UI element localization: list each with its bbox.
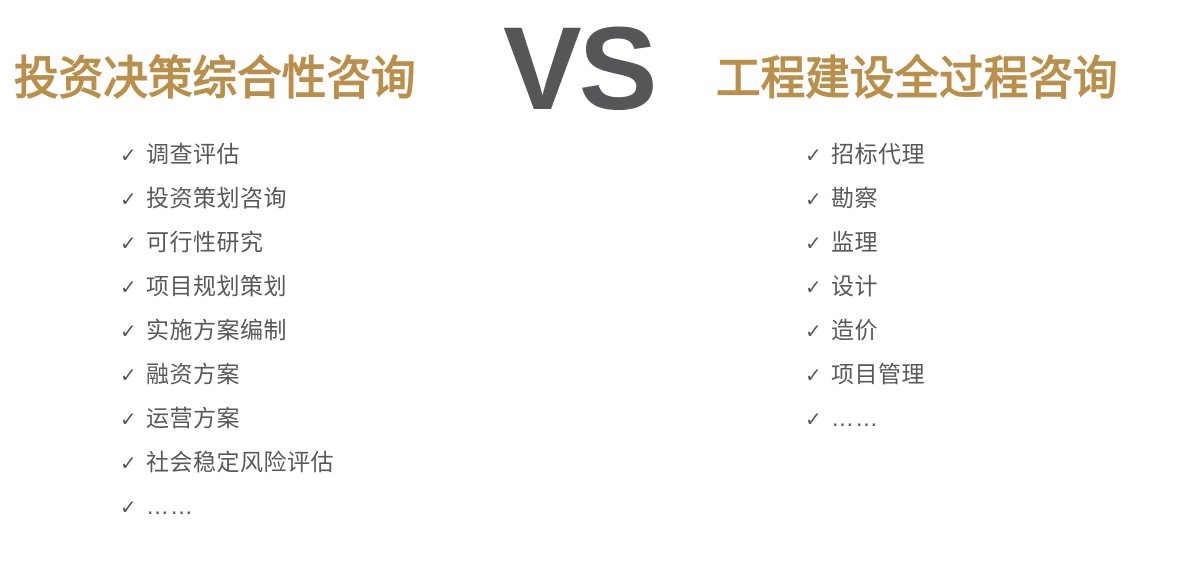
- vs-separator-label: VS: [503, 10, 654, 128]
- list-item: ✓调查评估: [120, 132, 334, 176]
- right-service-column: ✓招标代理✓勘察✓监理✓设计✓造价✓项目管理✓……: [805, 132, 925, 440]
- comparison-columns: ✓调查评估✓投资策划咨询✓可行性研究✓项目规划策划✓实施方案编制✓融资方案✓运营…: [0, 132, 1184, 578]
- list-item: ✓监理: [805, 220, 925, 264]
- list-item: ✓造价: [805, 308, 925, 352]
- check-icon: ✓: [120, 485, 146, 529]
- list-item: ✓招标代理: [805, 132, 925, 176]
- check-icon: ✓: [805, 177, 831, 221]
- list-item: ✓可行性研究: [120, 220, 334, 264]
- list-item-label: 监理: [831, 220, 878, 264]
- list-item: ✓……: [120, 484, 334, 528]
- list-item-label: 项目规划策划: [146, 264, 287, 308]
- check-icon: ✓: [805, 221, 831, 265]
- list-item: ✓……: [805, 396, 925, 440]
- list-item: ✓实施方案编制: [120, 308, 334, 352]
- right-service-list: ✓招标代理✓勘察✓监理✓设计✓造价✓项目管理✓……: [805, 132, 925, 440]
- check-icon: ✓: [805, 353, 831, 397]
- list-item: ✓运营方案: [120, 396, 334, 440]
- list-item: ✓勘察: [805, 176, 925, 220]
- list-item-label: 勘察: [831, 176, 878, 220]
- check-icon: ✓: [805, 397, 831, 441]
- check-icon: ✓: [120, 221, 146, 265]
- list-item-label: 可行性研究: [146, 220, 264, 264]
- list-item: ✓社会稳定风险评估: [120, 440, 334, 484]
- check-icon: ✓: [805, 133, 831, 177]
- list-item: ✓项目管理: [805, 352, 925, 396]
- left-service-column: ✓调查评估✓投资策划咨询✓可行性研究✓项目规划策划✓实施方案编制✓融资方案✓运营…: [120, 132, 334, 528]
- check-icon: ✓: [120, 133, 146, 177]
- check-icon: ✓: [805, 265, 831, 309]
- check-icon: ✓: [805, 309, 831, 353]
- list-item-label: 社会稳定风险评估: [146, 440, 334, 484]
- list-item-label: 招标代理: [831, 132, 925, 176]
- list-item-label: 实施方案编制: [146, 308, 287, 352]
- right-category-title: 工程建设全过程咨询: [716, 50, 1118, 106]
- list-item-label: 项目管理: [831, 352, 925, 396]
- list-item-label: 融资方案: [146, 352, 240, 396]
- list-item-label: 设计: [831, 264, 878, 308]
- list-item: ✓设计: [805, 264, 925, 308]
- list-item: ✓融资方案: [120, 352, 334, 396]
- list-item-label: 调查评估: [146, 132, 240, 176]
- list-item: ✓项目规划策划: [120, 264, 334, 308]
- left-category-title: 投资决策综合性咨询: [14, 50, 416, 106]
- list-item-label: ……: [831, 396, 879, 440]
- check-icon: ✓: [120, 309, 146, 353]
- list-item-label: ……: [146, 484, 194, 528]
- left-service-list: ✓调查评估✓投资策划咨询✓可行性研究✓项目规划策划✓实施方案编制✓融资方案✓运营…: [120, 132, 334, 528]
- list-item-label: 投资策划咨询: [146, 176, 287, 220]
- check-icon: ✓: [120, 177, 146, 221]
- check-icon: ✓: [120, 397, 146, 441]
- list-item-label: 运营方案: [146, 396, 240, 440]
- list-item-label: 造价: [831, 308, 878, 352]
- titles-header: 投资决策综合性咨询 VS 工程建设全过程咨询: [0, 0, 1184, 132]
- slide-canvas: 投资决策综合性咨询 VS 工程建设全过程咨询 ✓调查评估✓投资策划咨询✓可行性研…: [0, 0, 1184, 578]
- check-icon: ✓: [120, 441, 146, 485]
- check-icon: ✓: [120, 353, 146, 397]
- list-item: ✓投资策划咨询: [120, 176, 334, 220]
- check-icon: ✓: [120, 265, 146, 309]
